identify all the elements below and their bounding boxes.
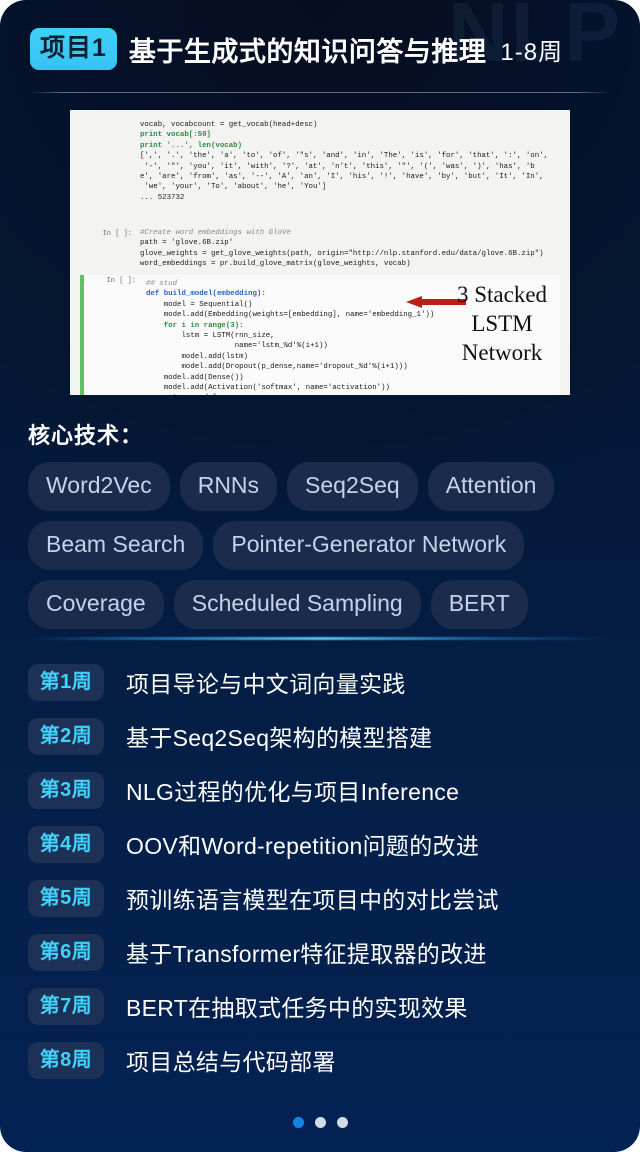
code-line: 'we', 'your', 'To', 'about', 'he', 'You'… [140,182,564,192]
project-card: NLP 项目1 基于生成式的知识问答与推理 1-8周 vocab, vocabc… [0,0,640,1152]
pagination-dot-1[interactable] [293,1117,304,1128]
code-line: #Create word embeddings with GloVe [140,228,564,238]
week-badge: 第5周 [28,880,104,917]
core-tech-heading: 核心技术： [28,418,143,450]
week-row[interactable]: 第4周 OOV和Word-repetition问题的改进 [28,817,620,871]
code-line: [',', '.', 'the', 'a', 'to', 'of', '"s',… [140,151,564,161]
week-row[interactable]: 第8周 项目总结与代码部署 [28,1033,620,1087]
tech-tag[interactable]: Coverage [28,580,164,629]
week-schedule-list: 第1周 项目导论与中文词向量实践 第2周 基于Seq2Seq架构的模型搭建 第3… [28,655,620,1087]
week-badge: 第6周 [28,934,104,971]
week-row[interactable]: 第3周 NLG过程的优化与项目Inference [28,763,620,817]
cell-prompt [70,118,132,120]
tech-tag[interactable]: Seq2Seq [287,462,418,511]
code-line: ... 523732 [140,193,564,203]
card-header: 项目1 基于生成式的知识问答与推理 1-8周 [0,26,640,72]
week-topic: 项目总结与代码部署 [126,1043,336,1077]
tech-tag[interactable]: Pointer-Generator Network [213,521,524,570]
code-line: vocab, vocabcount = get_vocab(head+desc) [140,120,564,130]
annotation-line: 3 Stacked [438,280,566,309]
week-topic: OOV和Word-repetition问题的改进 [126,827,479,861]
tech-tag[interactable]: Beam Search [28,521,203,570]
week-topic: NLG过程的优化与项目Inference [126,773,459,807]
pagination-dot-2[interactable] [315,1117,326,1128]
notebook-cell-glove: In [ ]: #Create word embeddings with Glo… [70,228,570,270]
week-badge: 第1周 [28,664,104,701]
pagination-dots [0,1117,640,1128]
week-badge: 第4周 [28,826,104,863]
code-annotation: 3 Stacked LSTM Network [438,280,566,367]
code-line: model.add(Activation('softmax', name='ac… [146,383,554,393]
code-line: print '...', len(vocab) [140,141,564,151]
week-topic: 预训练语言模型在项目中的对比尝试 [126,881,499,915]
notebook-cell-output: vocab, vocabcount = get_vocab(head+desc)… [70,118,570,203]
code-line: model.add(Dense()) [146,373,554,383]
weeks-range-label: 1-8周 [500,32,563,67]
tech-tag[interactable]: Word2Vec [28,462,170,511]
annotation-line: Network [438,338,566,367]
week-topic: 项目导论与中文词向量实践 [126,665,406,699]
cell-prompt: In [ ]: [70,228,132,238]
week-badge: 第8周 [28,1042,104,1079]
week-topic: 基于Seq2Seq架构的模型搭建 [126,719,432,753]
week-badge: 第3周 [28,772,104,809]
page-title: 基于生成式的知识问答与推理 [129,30,487,69]
code-line: path = 'glove.6B.zip' [140,238,564,248]
week-topic: 基于Transformer特征提取器的改进 [126,935,487,969]
tech-tag[interactable]: Attention [428,462,555,511]
cell-body: #Create word embeddings with GloVe path … [140,228,570,270]
code-line: print vocab[:50] [140,130,564,140]
code-screenshot-image: vocab, vocabcount = get_vocab(head+desc)… [70,110,570,395]
cell-body: vocab, vocabcount = get_vocab(head+desc)… [140,118,570,203]
week-row[interactable]: 第7周 BERT在抽取式任务中的实现效果 [28,979,620,1033]
week-row[interactable]: 第5周 预训练语言模型在项目中的对比尝试 [28,871,620,925]
header-divider [30,92,610,93]
cell-prompt: In [ ]: [80,275,136,285]
code-line: return model [146,393,554,395]
project-number-badge: 项目1 [30,28,117,70]
week-badge: 第7周 [28,988,104,1025]
week-topic: BERT在抽取式任务中的实现效果 [126,989,468,1023]
tech-tag[interactable]: BERT [431,580,528,629]
week-row[interactable]: 第2周 基于Seq2Seq架构的模型搭建 [28,709,620,763]
section-divider-glow [28,637,612,640]
tech-tag[interactable]: Scheduled Sampling [174,580,421,629]
code-line: word_embeddings = pr.build_glove_matrix(… [140,259,564,269]
code-line: '-', '"', 'you', 'it', 'with', '?', 'at'… [140,162,564,172]
week-row[interactable]: 第6周 基于Transformer特征提取器的改进 [28,925,620,979]
core-tech-tag-list: Word2Vec RNNs Seq2Seq Attention Beam Sea… [28,462,612,629]
annotation-line: LSTM [438,309,566,338]
code-line: e', 'are', 'from', 'as', '--', 'A', 'an'… [140,172,564,182]
pagination-dot-3[interactable] [337,1117,348,1128]
week-badge: 第2周 [28,718,104,755]
tech-tag[interactable]: RNNs [180,462,277,511]
week-row[interactable]: 第1周 项目导论与中文词向量实践 [28,655,620,709]
code-line: glove_weights = get_glove_weights(path, … [140,249,564,259]
